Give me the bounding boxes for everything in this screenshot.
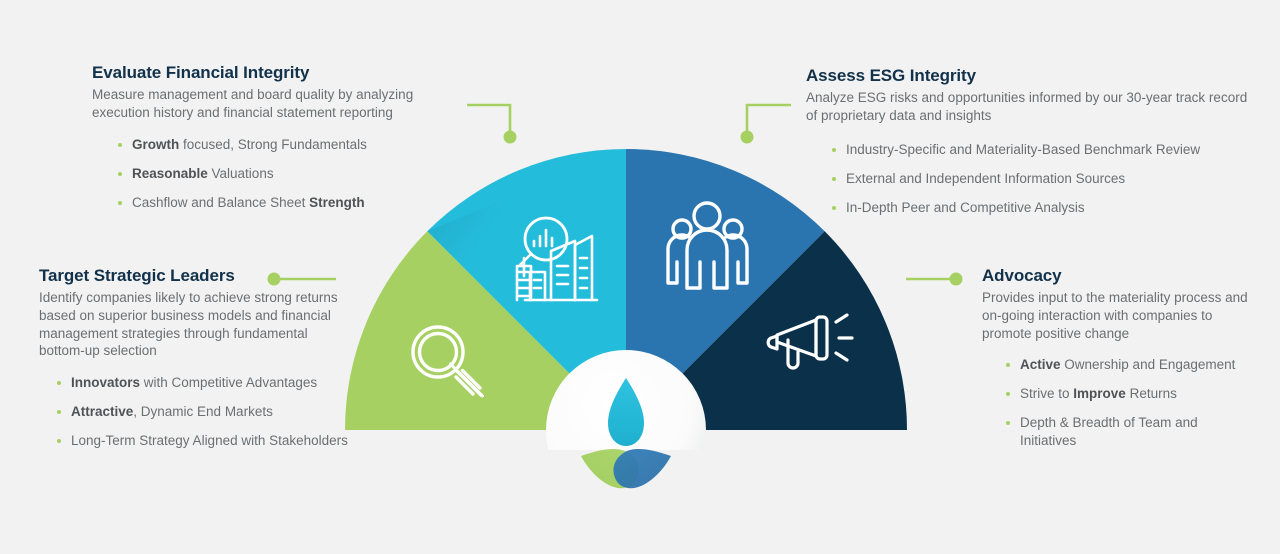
page-title-target: Target Strategic Leaders <box>39 266 235 286</box>
block-evaluate-financial-integrity: Evaluate Financial Integrity Measure man… <box>92 63 472 211</box>
description-evaluate: Measure management and board quality by … <box>92 86 472 122</box>
list-item: In-Depth Peer and Competitive Analysis <box>826 199 1251 217</box>
page-title-evaluate: Evaluate Financial Integrity <box>92 63 472 83</box>
list-item: External and Independent Information Sou… <box>826 170 1251 188</box>
list-item: Innovators with Competitive Advantages <box>51 374 349 392</box>
description-advocacy: Provides input to the materiality proces… <box>982 289 1257 342</box>
bullet-list-advocacy: Active Ownership and EngagementStrive to… <box>1000 356 1257 450</box>
description-target: Identify companies likely to achieve str… <box>39 289 349 360</box>
infographic-canvas: Evaluate Financial Integrity Measure man… <box>0 0 1280 554</box>
block-target-strategic-leaders: Target Strategic Leaders Identify compan… <box>39 266 349 450</box>
list-item: Long-Term Strategy Aligned with Stakehol… <box>51 432 349 450</box>
connector-advocacy <box>902 270 968 288</box>
list-item: Reasonable Valuations <box>112 165 472 183</box>
block-advocacy: Advocacy Provides input to the materiali… <box>982 266 1257 450</box>
list-item: Depth & Breadth of Team and Initiatives <box>1000 414 1257 450</box>
block-assess-esg-integrity: Assess ESG Integrity Analyze ESG risks a… <box>806 66 1251 216</box>
trefoil-leaf-logo <box>543 348 709 514</box>
bullet-list-esg: Industry-Specific and Materiality-Based … <box>826 141 1251 217</box>
list-item: Cashflow and Balance Sheet Strength <box>112 194 472 212</box>
list-item: Industry-Specific and Materiality-Based … <box>826 141 1251 159</box>
list-item: Active Ownership and Engagement <box>1000 356 1257 374</box>
description-esg: Analyze ESG risks and opportunities info… <box>806 89 1251 125</box>
connector-esg <box>736 100 796 148</box>
bullet-list-evaluate: Growth focused, Strong FundamentalsReaso… <box>112 136 472 212</box>
list-item: Attractive, Dynamic End Markets <box>51 403 349 421</box>
bullet-list-target: Innovators with Competitive AdvantagesAt… <box>51 374 349 450</box>
list-item: Growth focused, Strong Fundamentals <box>112 136 472 154</box>
page-title-advocacy: Advocacy <box>982 266 1257 286</box>
page-title-esg: Assess ESG Integrity <box>806 66 1251 86</box>
list-item: Strive to Improve Returns <box>1000 385 1257 403</box>
